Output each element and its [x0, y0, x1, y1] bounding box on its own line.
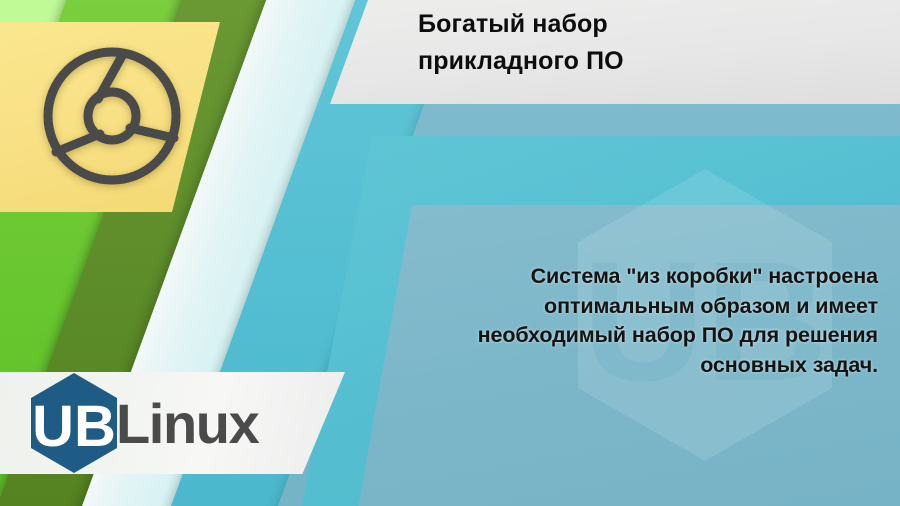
ub-hexagon-letters: UB	[32, 394, 116, 459]
app-suite-aperture-icon	[38, 42, 186, 190]
page-title: Богатый набор прикладного ПО	[418, 6, 888, 79]
body-paragraph: Система "из коробки" настроена оптимальн…	[400, 262, 878, 381]
brand-wordmark: Linux	[116, 396, 258, 452]
ub-hexagon-icon: UB	[28, 371, 120, 475]
brand-logo: UB Linux	[28, 370, 258, 476]
slide-root: UB Система "из коробки" настроена оптима…	[0, 0, 900, 506]
